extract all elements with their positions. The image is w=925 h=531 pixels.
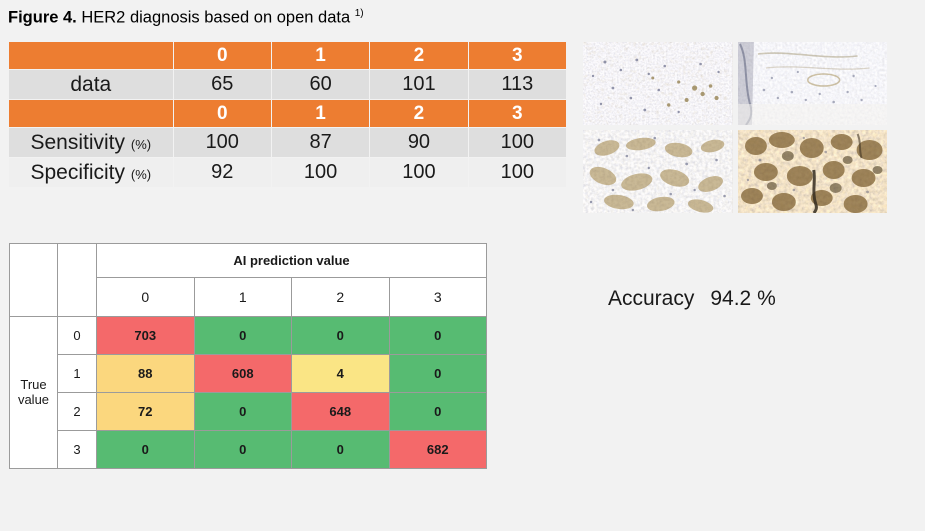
matrix-col-header-2: 2	[292, 278, 390, 317]
matrix-cell-0-1: 0	[194, 317, 292, 355]
matrix-cell-2-2: 648	[292, 393, 390, 431]
matrix-cell-0-3: 0	[389, 317, 487, 355]
slide-canvas: Figure 4. HER2 diagnosis based on open d…	[0, 0, 925, 531]
matrix-row-header-0: 0	[58, 317, 97, 355]
matrix-cell-2-0: 72	[97, 393, 195, 431]
specificity-label-unit: (%)	[131, 167, 151, 182]
confusion-matrix-table: AI prediction value 0 1 2 3 Truevalue 0 …	[9, 243, 487, 469]
matrix-cell-2-3: 0	[389, 393, 487, 431]
metrics-row-sensitivity-label: Sensitivity (%)	[9, 128, 173, 157]
metrics-row-sensitivity-value-2: 90	[370, 128, 467, 157]
micrograph-grid	[583, 42, 887, 213]
metrics-row-specificity-value-3: 100	[469, 158, 566, 187]
metrics-row-sensitivity: Sensitivity (%) 100 87 90 100	[9, 128, 566, 157]
her2-score-2-micrograph	[583, 130, 733, 213]
matrix-col-header-row: 0 1 2 3	[10, 278, 487, 317]
metrics-header-row-1: 0 1 2 3	[9, 42, 566, 69]
metrics-header-blank-1	[9, 42, 173, 69]
matrix-cell-1-3: 0	[389, 355, 487, 393]
metrics-header2-col-0: 0	[174, 100, 271, 127]
matrix-row-header-3: 3	[58, 431, 97, 469]
metrics-row-sensitivity-value-3: 100	[469, 128, 566, 157]
matrix-cell-0-2: 0	[292, 317, 390, 355]
matrix-corner-cell	[10, 244, 58, 317]
her2-score-2-image	[583, 130, 733, 213]
her2-score-1-image	[738, 42, 888, 125]
matrix-row-header-2: 2	[58, 393, 97, 431]
figure-footnote-marker: 1)	[355, 8, 364, 19]
metrics-row-specificity-value-2: 100	[370, 158, 467, 187]
matrix-col-header-3: 3	[389, 278, 487, 317]
metrics-row-specificity: Specificity (%) 92 100 100 100	[9, 158, 566, 187]
accuracy-annotation: Accuracy94.2 %	[608, 287, 776, 311]
her2-score-0-micrograph	[583, 42, 733, 125]
metrics-header-blank-2	[9, 100, 173, 127]
matrix-col-header-0: 0	[97, 278, 195, 317]
per-class-metrics-table: 0 1 2 3 data 65 60 101 113 0 1 2 3 Sensi…	[8, 41, 567, 188]
metrics-row-data-value-0: 65	[174, 70, 271, 99]
metrics-header2-col-1: 1	[272, 100, 369, 127]
matrix-row-group-label: Truevalue	[10, 317, 58, 469]
accuracy-label: Accuracy	[608, 287, 694, 310]
matrix-col-group-label: AI prediction value	[97, 244, 487, 278]
figure-caption: Figure 4. HER2 diagnosis based on open d…	[8, 8, 364, 28]
metrics-header-col-2: 2	[370, 42, 467, 69]
specificity-label-text: Specificity	[30, 161, 125, 184]
metrics-row-data-value-3: 113	[469, 70, 566, 99]
sensitivity-label-unit: (%)	[131, 137, 151, 152]
matrix-corner-spacer	[58, 244, 97, 278]
sensitivity-label-text: Sensitivity	[30, 131, 125, 154]
metrics-header-col-0: 0	[174, 42, 271, 69]
matrix-cell-1-0: 88	[97, 355, 195, 393]
matrix-cell-3-2: 0	[292, 431, 390, 469]
metrics-row-data-value-2: 101	[370, 70, 467, 99]
figure-caption-lead: Figure 4.	[8, 9, 77, 27]
accuracy-value: 94.2 %	[710, 287, 775, 310]
matrix-col-group-row: AI prediction value	[10, 244, 487, 278]
matrix-corner-spacer-2	[58, 278, 97, 317]
matrix-cell-3-3: 682	[389, 431, 487, 469]
true-value-label-line2: value	[18, 392, 49, 407]
metrics-row-sensitivity-value-1: 87	[272, 128, 369, 157]
matrix-cell-0-0: 703	[97, 317, 195, 355]
matrix-row-1: 1 88 608 4 0	[10, 355, 487, 393]
matrix-cell-3-0: 0	[97, 431, 195, 469]
matrix-row-0: Truevalue 0 703 0 0 0	[10, 317, 487, 355]
metrics-row-specificity-value-0: 92	[174, 158, 271, 187]
metrics-header-row-2: 0 1 2 3	[9, 100, 566, 127]
metrics-row-sensitivity-value-0: 100	[174, 128, 271, 157]
metrics-header2-col-2: 2	[370, 100, 467, 127]
true-value-label-line1: True	[20, 377, 46, 392]
her2-score-3-micrograph	[738, 130, 888, 213]
matrix-row-header-1: 1	[58, 355, 97, 393]
metrics-row-data: data 65 60 101 113	[9, 70, 566, 99]
metrics-row-specificity-label: Specificity (%)	[9, 158, 173, 187]
matrix-cell-3-1: 0	[194, 431, 292, 469]
metrics-row-data-value-1: 60	[272, 70, 369, 99]
metrics-header-col-3: 3	[469, 42, 566, 69]
matrix-row-2: 2 72 0 648 0	[10, 393, 487, 431]
matrix-cell-1-2: 4	[292, 355, 390, 393]
her2-score-3-image	[738, 130, 888, 213]
her2-score-0-image	[583, 42, 733, 125]
metrics-row-data-label: data	[9, 70, 173, 99]
metrics-header2-col-3: 3	[469, 100, 566, 127]
her2-score-1-micrograph	[738, 42, 888, 125]
matrix-row-3: 3 0 0 0 682	[10, 431, 487, 469]
figure-caption-title: HER2 diagnosis based on open data	[77, 9, 355, 27]
metrics-header-col-1: 1	[272, 42, 369, 69]
matrix-cell-1-1: 608	[194, 355, 292, 393]
matrix-col-header-1: 1	[194, 278, 292, 317]
matrix-cell-2-1: 0	[194, 393, 292, 431]
metrics-row-specificity-value-1: 100	[272, 158, 369, 187]
